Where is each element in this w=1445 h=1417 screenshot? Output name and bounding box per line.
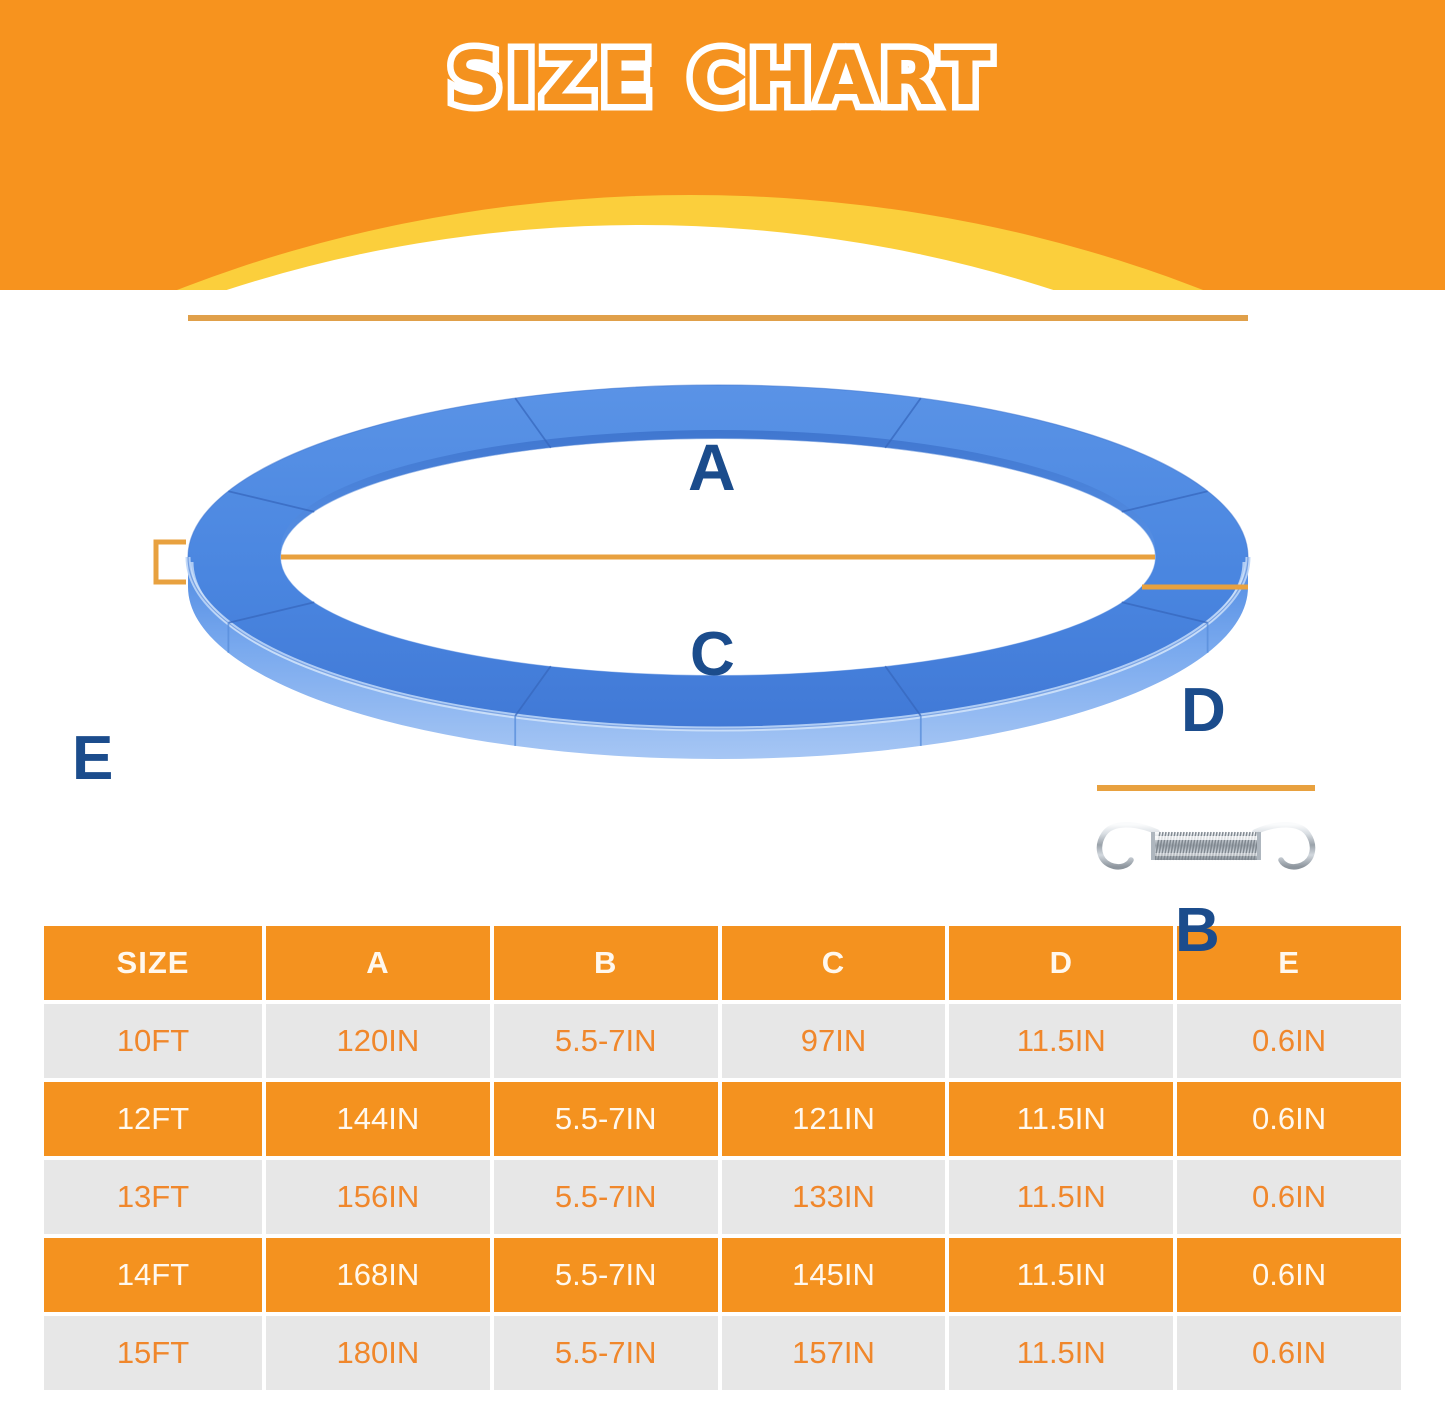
dimension-bracket-e [156, 542, 186, 582]
cell-size: 10FT [44, 1004, 262, 1078]
column-header-size: SIZE [44, 926, 262, 1000]
dimension-label-c: C [690, 624, 735, 686]
spring-cap-left [1151, 832, 1155, 860]
cell-size: 14FT [44, 1238, 262, 1312]
column-header-c: C [722, 926, 946, 1000]
cell-e: 0.6IN [1177, 1316, 1401, 1390]
table-row: 12FT 144IN 5.5-7IN 121IN 11.5IN 0.6IN [44, 1082, 1401, 1156]
table-row: 13FT 156IN 5.5-7IN 133IN 11.5IN 0.6IN [44, 1160, 1401, 1234]
spring-highlight-top [1153, 836, 1259, 840]
cell-size: 12FT [44, 1082, 262, 1156]
spring-coils [1151, 832, 1261, 860]
cell-a: 144IN [266, 1082, 490, 1156]
spring-highlight-bottom [1153, 853, 1259, 856]
cell-a: 180IN [266, 1316, 490, 1390]
cell-c: 157IN [722, 1316, 946, 1390]
page-title: SIZE CHART [0, 36, 1445, 122]
dimension-label-d: D [1181, 680, 1226, 742]
cell-e: 0.6IN [1177, 1160, 1401, 1234]
cell-size: 13FT [44, 1160, 262, 1234]
dimension-label-a: A [688, 434, 736, 500]
column-header-a: A [266, 926, 490, 1000]
cell-d: 11.5IN [949, 1082, 1173, 1156]
column-header-b: B [494, 926, 718, 1000]
table-row: 15FT 180IN 5.5-7IN 157IN 11.5IN 0.6IN [44, 1316, 1401, 1390]
column-header-d: D [949, 926, 1173, 1000]
cell-c: 133IN [722, 1160, 946, 1234]
dimension-label-b: B [1175, 900, 1220, 962]
cell-e: 0.6IN [1177, 1238, 1401, 1312]
cell-c: 97IN [722, 1004, 946, 1078]
table-row: 14FT 168IN 5.5-7IN 145IN 11.5IN 0.6IN [44, 1238, 1401, 1312]
cell-a: 156IN [266, 1160, 490, 1234]
table-row: 10FT 120IN 5.5-7IN 97IN 11.5IN 0.6IN [44, 1004, 1401, 1078]
dimension-label-e: E [72, 728, 113, 790]
spring-hook-left [1099, 825, 1157, 867]
cell-d: 11.5IN [949, 1238, 1173, 1312]
cell-d: 11.5IN [949, 1160, 1173, 1234]
cell-e: 0.6IN [1177, 1004, 1401, 1078]
product-dimension-diagram: A C D E B [0, 210, 1445, 910]
cell-e: 0.6IN [1177, 1082, 1401, 1156]
cell-b: 5.5-7IN [494, 1082, 718, 1156]
cell-b: 5.5-7IN [494, 1160, 718, 1234]
cell-c: 145IN [722, 1238, 946, 1312]
cell-size: 15FT [44, 1316, 262, 1390]
spring-cap-right [1257, 832, 1261, 860]
cell-a: 120IN [266, 1004, 490, 1078]
cell-b: 5.5-7IN [494, 1316, 718, 1390]
cell-b: 5.5-7IN [494, 1238, 718, 1312]
spring-hook-right [1255, 825, 1313, 867]
cell-c: 121IN [722, 1082, 946, 1156]
cell-d: 11.5IN [949, 1316, 1173, 1390]
cell-a: 168IN [266, 1238, 490, 1312]
cell-b: 5.5-7IN [494, 1004, 718, 1078]
size-chart-table: SIZE A B C D E 10FT 120IN 5.5-7IN 97IN 1… [40, 922, 1405, 1394]
diagram-graphics [0, 210, 1445, 910]
trampoline-spring-icon [1099, 825, 1312, 867]
cell-d: 11.5IN [949, 1004, 1173, 1078]
